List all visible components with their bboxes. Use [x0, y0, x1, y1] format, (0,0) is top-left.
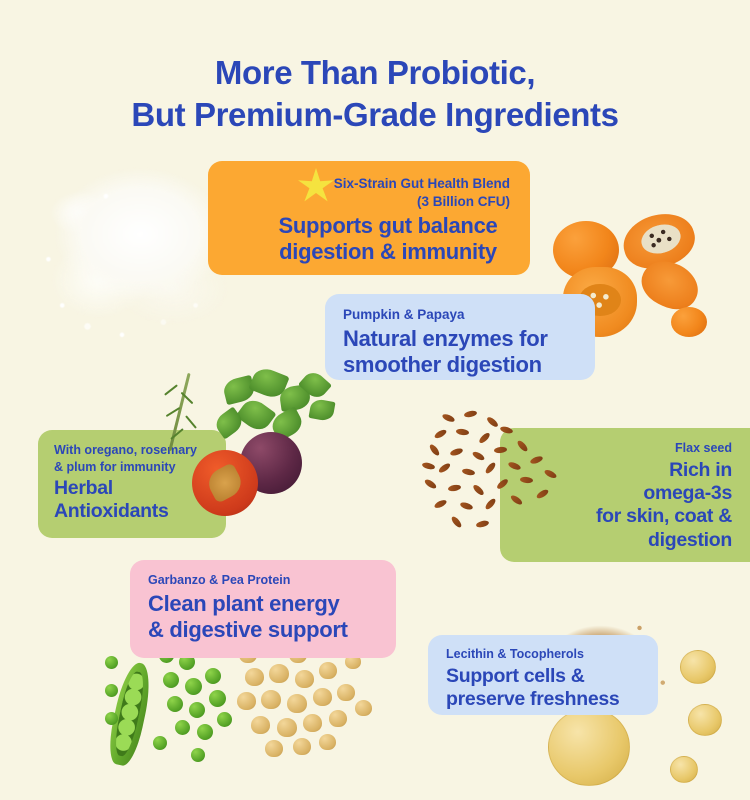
garbanzo-shape	[265, 740, 283, 757]
pea-shape	[163, 672, 179, 688]
card-eyebrow: Garbanzo & Pea Protein	[148, 572, 396, 589]
card-headline-line4: digestion	[648, 529, 732, 551]
card-headline-line2: digestion & immunity	[279, 239, 497, 264]
card-headline: Rich in omega-3s for skin, coat & digest…	[500, 459, 732, 553]
papaya-slice-shape	[634, 253, 705, 318]
card-eyebrow: Flax seed	[500, 440, 732, 457]
garbanzo-shape	[269, 664, 289, 683]
flax-seed-shape	[486, 416, 500, 429]
pea-shape	[153, 736, 167, 750]
card-headline-line3: for skin, coat &	[596, 505, 732, 527]
garbanzo-shape	[319, 734, 336, 750]
rosemary-needle-shape	[185, 415, 197, 429]
card-headline-line2: preserve freshness	[446, 688, 619, 710]
garbanzo-shape	[293, 738, 311, 755]
card-headline-line1: Natural enzymes for	[343, 326, 548, 351]
pea-shape	[197, 724, 213, 740]
card-lecithin-tocopherols[interactable]: Lecithin & Tocopherols Support cells & p…	[428, 635, 658, 715]
rosemary-needle-shape	[164, 384, 178, 395]
pea-shape	[167, 696, 183, 712]
plum-whole-shape	[240, 432, 302, 494]
card-headline-line1: Supports gut balance	[279, 213, 498, 238]
card-eyebrow-line2: & plum for immunity	[54, 460, 176, 474]
flax-seed-shape	[456, 428, 470, 436]
card-eyebrow: Lecithin & Tocopherols	[446, 646, 658, 663]
card-headline-line2: Antioxidants	[54, 500, 169, 522]
pea-shape	[105, 656, 118, 669]
pumpkin-small-shape	[671, 307, 707, 337]
card-garbanzo-pea-protein[interactable]: Garbanzo & Pea Protein Clean plant energ…	[130, 560, 396, 658]
page-title-line1: More Than Probiotic,	[215, 54, 535, 91]
flax-seed-shape	[475, 520, 489, 529]
star-icon	[295, 166, 337, 208]
papaya-seeds-shape	[638, 220, 684, 258]
card-headline: Support cells & preserve freshness	[446, 665, 658, 712]
pea-shape	[105, 684, 118, 697]
pea-shape	[189, 702, 205, 718]
oil-drop-shape	[680, 650, 716, 684]
oregano-leaf-shape	[222, 375, 257, 406]
papaya-half-shape	[617, 206, 701, 276]
flax-seed-shape	[437, 462, 451, 474]
flax-seed-shape	[428, 443, 441, 457]
pea-shape	[209, 690, 226, 707]
garbanzo-shape	[245, 668, 264, 686]
garbanzo-shape	[287, 694, 307, 713]
oregano-leaf-shape	[278, 384, 311, 412]
rosemary-needle-shape	[166, 407, 181, 417]
card-headline: Supports gut balance digestion & immunit…	[268, 213, 512, 266]
card-herbal-antioxidants[interactable]: With oregano, rosemary & plum for immuni…	[38, 430, 226, 538]
card-eyebrow-line1: Six-Strain Gut Health Blend	[334, 176, 510, 191]
pea-shape	[175, 720, 190, 735]
flax-seed-shape	[450, 515, 463, 529]
pumpkin-whole-shape	[553, 221, 619, 279]
oregano-leaf-shape	[268, 406, 306, 441]
flax-seed-shape	[433, 498, 447, 509]
garbanzo-shape	[261, 690, 281, 709]
flax-seed-shape	[433, 428, 447, 440]
garbanzo-shape	[251, 716, 270, 734]
oil-drop-shape	[688, 704, 722, 736]
pea-shape	[185, 678, 202, 695]
oregano-leaf-shape	[235, 395, 276, 435]
card-eyebrow: Pumpkin & Papaya	[343, 306, 595, 324]
card-eyebrow-line2: (3 Billion CFU)	[417, 194, 510, 209]
oil-drop-shape	[548, 708, 630, 786]
flax-seed-shape	[471, 450, 485, 462]
card-six-strain-gut-health-blend[interactable]: Six-Strain Gut Health Blend (3 Billion C…	[208, 161, 530, 275]
card-pumpkin-papaya[interactable]: Pumpkin & Papaya Natural enzymes for smo…	[325, 294, 595, 380]
flax-seed-shape	[472, 483, 486, 496]
card-headline-line2: smoother digestion	[343, 352, 542, 377]
flax-seed-shape	[464, 410, 478, 419]
card-headline-line1: Herbal	[54, 477, 113, 499]
garbanzo-shape	[277, 718, 297, 737]
flax-seed-shape	[421, 462, 435, 471]
infographic-canvas: More Than Probiotic, But Premium-Grade I…	[0, 0, 750, 800]
pea-shape	[191, 748, 205, 762]
flax-seed-shape	[484, 497, 497, 511]
garbanzo-shape	[355, 700, 372, 716]
card-flax-seed[interactable]: Flax seed Rich in omega-3s for skin, coa…	[500, 428, 750, 562]
card-headline-line1: Support cells &	[446, 665, 585, 687]
garbanzo-shape	[329, 710, 347, 727]
oregano-leaf-shape	[308, 398, 335, 422]
pea-shape	[217, 712, 232, 727]
flax-seed-shape	[484, 461, 497, 475]
garbanzo-shape	[295, 670, 314, 688]
card-eyebrow: With oregano, rosemary & plum for immuni…	[54, 442, 226, 475]
peas-garbanzo-image	[105, 640, 445, 790]
page-title: More Than Probiotic, But Premium-Grade I…	[0, 52, 750, 135]
card-headline-line1: Clean plant energy	[148, 591, 339, 616]
rosemary-needle-shape	[181, 392, 194, 405]
oregano-leaf-shape	[248, 365, 289, 402]
garbanzo-shape	[313, 688, 332, 706]
oil-drop-shape	[670, 756, 698, 783]
card-eyebrow-line1: With oregano, rosemary	[54, 443, 197, 457]
pea-shape	[105, 712, 118, 725]
card-headline: Natural enzymes for smoother digestion	[343, 326, 595, 379]
flax-seed-shape	[448, 484, 462, 492]
card-headline: Clean plant energy & digestive support	[148, 591, 396, 644]
flax-seed-shape	[459, 501, 473, 511]
pea-pod-shape	[105, 660, 156, 768]
flax-seed-shape	[449, 447, 463, 457]
garbanzo-shape	[337, 684, 355, 701]
card-headline-line2: omega-3s	[643, 482, 732, 504]
page-title-line2: But Premium-Grade Ingredients	[0, 94, 750, 136]
flax-seed-shape	[478, 431, 492, 444]
garbanzo-shape	[237, 692, 256, 710]
garbanzo-shape	[303, 714, 322, 732]
pea-shape	[205, 668, 221, 684]
card-headline: Herbal Antioxidants	[54, 477, 226, 524]
flax-seed-shape	[462, 468, 476, 477]
card-headline-line1: Rich in	[669, 459, 732, 481]
garbanzo-shape	[319, 662, 337, 679]
flax-seed-shape	[441, 413, 455, 424]
flax-seed-shape	[423, 478, 437, 490]
card-headline-line2: & digestive support	[148, 617, 348, 642]
